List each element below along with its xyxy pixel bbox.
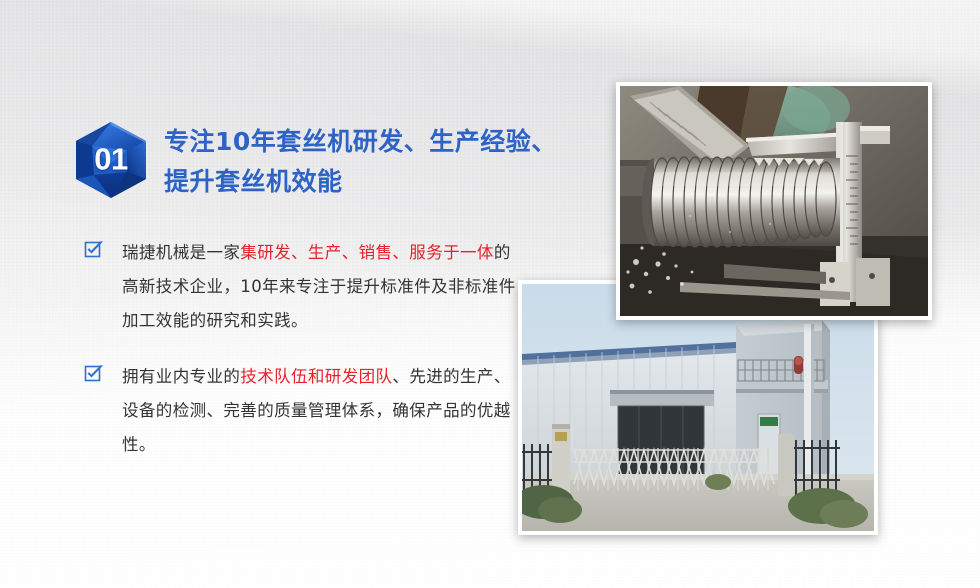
- checkbox-checked-icon: [84, 363, 104, 383]
- bullet-2-seg-1: 拥有业内专业的: [122, 367, 240, 386]
- threaded-rod-caliper-photo: [616, 82, 932, 320]
- list-item-text: 瑞捷机械是一家集研发、生产、销售、服务于一体的高新技术企业，10年来专注于提升标…: [122, 236, 524, 338]
- headline-row: 01 专注10年套丝机研发、生产经验、 提升套丝机效能: [72, 118, 557, 202]
- list-item: 瑞捷机械是一家集研发、生产、销售、服务于一体的高新技术企业，10年来专注于提升标…: [84, 236, 524, 338]
- bullet-list: 瑞捷机械是一家集研发、生产、销售、服务于一体的高新技术企业，10年来专注于提升标…: [84, 236, 524, 484]
- badge-number: 01: [72, 141, 150, 177]
- bullet-1-seg-1: 瑞捷机械是一家: [122, 243, 240, 262]
- headline-line-1: 专注10年套丝机研发、生产经验、: [164, 122, 557, 162]
- content-column: 01 专注10年套丝机研发、生产经验、 提升套丝机效能 瑞捷机械是一家集研发、生…: [0, 0, 560, 588]
- list-item-text: 拥有业内专业的技术队伍和研发团队、先进的生产、设备的检测、完善的质量管理体系，确…: [122, 360, 524, 462]
- headline-line-2: 提升套丝机效能: [164, 162, 557, 202]
- list-item: 拥有业内专业的技术队伍和研发团队、先进的生产、设备的检测、完善的质量管理体系，确…: [84, 360, 524, 462]
- hexagon-gem-badge: 01: [72, 120, 150, 200]
- bullet-2-seg-2-highlight: 技术队伍和研发团队: [240, 367, 392, 386]
- headline: 专注10年套丝机研发、生产经验、 提升套丝机效能: [164, 118, 557, 202]
- checkbox-checked-icon: [84, 239, 104, 259]
- promo-banner: 01 专注10年套丝机研发、生产经验、 提升套丝机效能 瑞捷机械是一家集研发、生…: [0, 0, 980, 588]
- bullet-1-seg-2-highlight: 集研发、生产、销售、服务于一体: [240, 243, 494, 262]
